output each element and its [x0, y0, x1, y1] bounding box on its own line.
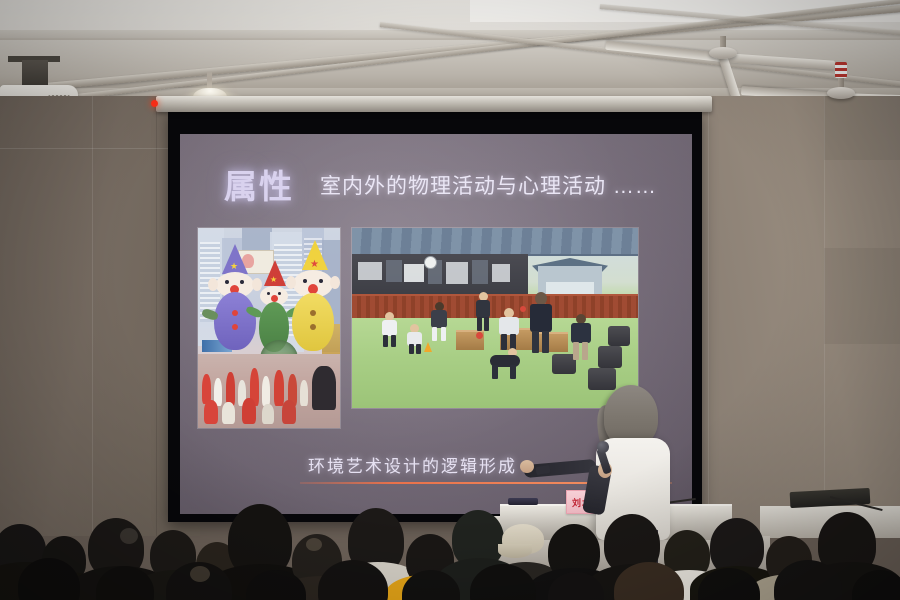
- presenter-hand-left: [520, 460, 534, 473]
- screen-power-led: [151, 100, 158, 107]
- fan-hub: [709, 47, 737, 59]
- parade-crowd: [198, 354, 340, 428]
- slide-subtitle: 室内外的物理活动与心理活动 ……: [320, 170, 657, 200]
- wall-right: [700, 96, 900, 536]
- audience: [0, 500, 900, 600]
- lecture-hall-scene: 属性 室内外的物理活动与心理活动 …… ★: [0, 0, 900, 600]
- audience-hair-clip: [120, 528, 138, 544]
- audience-hair-clip: [306, 538, 322, 551]
- audience-cap-brim: [498, 544, 532, 558]
- canopy-roof: [352, 228, 638, 256]
- audience-hair-clip: [190, 566, 210, 582]
- slide-image-parade: ★ ★: [198, 228, 340, 428]
- microphone-head: [597, 441, 609, 453]
- slide-image-playground: [352, 228, 638, 408]
- ceiling-fan-2: [840, 92, 842, 94]
- red-fence: [352, 294, 638, 321]
- ceiling-fan-1: [722, 52, 724, 54]
- fan-band: [835, 62, 847, 78]
- slide-title: 属性: [224, 160, 294, 208]
- parade-balloon-yellow: ★: [290, 266, 338, 352]
- slide-footer-text: 环境艺术设计的逻辑形成: [308, 452, 517, 477]
- screen-housing: [156, 96, 712, 112]
- projector-mount: [22, 60, 48, 88]
- fan-hub: [827, 87, 855, 99]
